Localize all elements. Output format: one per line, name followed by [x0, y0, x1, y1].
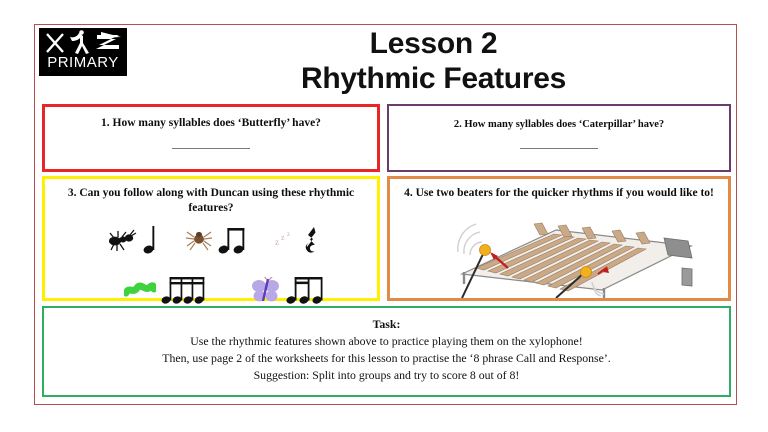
task-heading: Task:: [44, 316, 729, 333]
rhythm-features-group: z z z: [45, 219, 377, 311]
question-1-text: 1. How many syllables does ‘Butterfly’ h…: [45, 116, 377, 131]
soundwave-left: [458, 224, 482, 255]
rhythm-row-bottom: [73, 269, 377, 311]
rhythm-item-spider: [185, 219, 248, 261]
logo-wordmark: PRIMARY: [39, 54, 127, 71]
question-box-3: 3. Can you follow along with Duncan usin…: [42, 176, 380, 301]
butterfly-icon: [251, 277, 281, 303]
slide-header: PRIMARY Lesson 2 Rhythmic Features: [35, 25, 738, 99]
question-2-text: 2. How many syllables does ‘Caterpillar’…: [389, 117, 729, 132]
question-box-2: 2. How many syllables does ‘Caterpillar’…: [387, 104, 731, 172]
caterpillar-icon: [124, 280, 156, 300]
ant-icon: [106, 227, 138, 253]
title-line-topic: Rhythmic Features: [131, 62, 736, 96]
title-line-lesson: Lesson 2: [131, 26, 736, 62]
task-line-2: Then, use page 2 of the worksheets for t…: [44, 350, 729, 367]
two-eighth-notes-icon: [218, 222, 248, 258]
page-title: Lesson 2 Rhythmic Features: [131, 26, 736, 96]
question-box-4: 4. Use two beaters for the quicker rhyth…: [387, 176, 731, 301]
rhythm-item-butterfly: [251, 269, 326, 311]
slide-frame: PRIMARY Lesson 2 Rhythmic Features 1. Ho…: [34, 24, 737, 405]
quarter-note-icon: [143, 222, 159, 258]
logo-letters-icon: [39, 30, 127, 57]
eighth-eighth-quarter-icon: [286, 272, 326, 308]
task-line-1: Use the rhythmic features shown above to…: [44, 333, 729, 350]
svg-text:z: z: [281, 233, 285, 242]
quarter-rest-icon: [303, 222, 321, 258]
xylophone-with-beaters-icon: [406, 212, 716, 298]
question-4-text: 4. Use two beaters for the quicker rhyth…: [390, 186, 728, 201]
spider-icon: [185, 227, 213, 253]
task-line-3: Suggestion: Split into groups and try to…: [44, 367, 729, 384]
rhythm-row-top: z z z: [49, 219, 377, 261]
task-box: Task: Use the rhythmic features shown ab…: [42, 306, 731, 397]
four-sixteenth-notes-icon: [161, 272, 207, 308]
svg-text:z: z: [287, 230, 290, 238]
rhythm-item-rest: z z z: [274, 219, 321, 261]
question-box-1: 1. How many syllables does ‘Butterfly’ h…: [42, 104, 380, 172]
answer-blank-1[interactable]: [172, 148, 250, 149]
svg-text:z: z: [275, 237, 279, 247]
rhythm-item-ant: [106, 219, 159, 261]
sleep-zzz-icon: z z z: [274, 229, 298, 251]
answer-blank-2[interactable]: [520, 148, 598, 149]
question-3-text: 3. Can you follow along with Duncan usin…: [45, 186, 377, 216]
xyz-primary-logo: PRIMARY: [39, 28, 127, 76]
rhythm-item-caterpillar: [124, 269, 207, 311]
